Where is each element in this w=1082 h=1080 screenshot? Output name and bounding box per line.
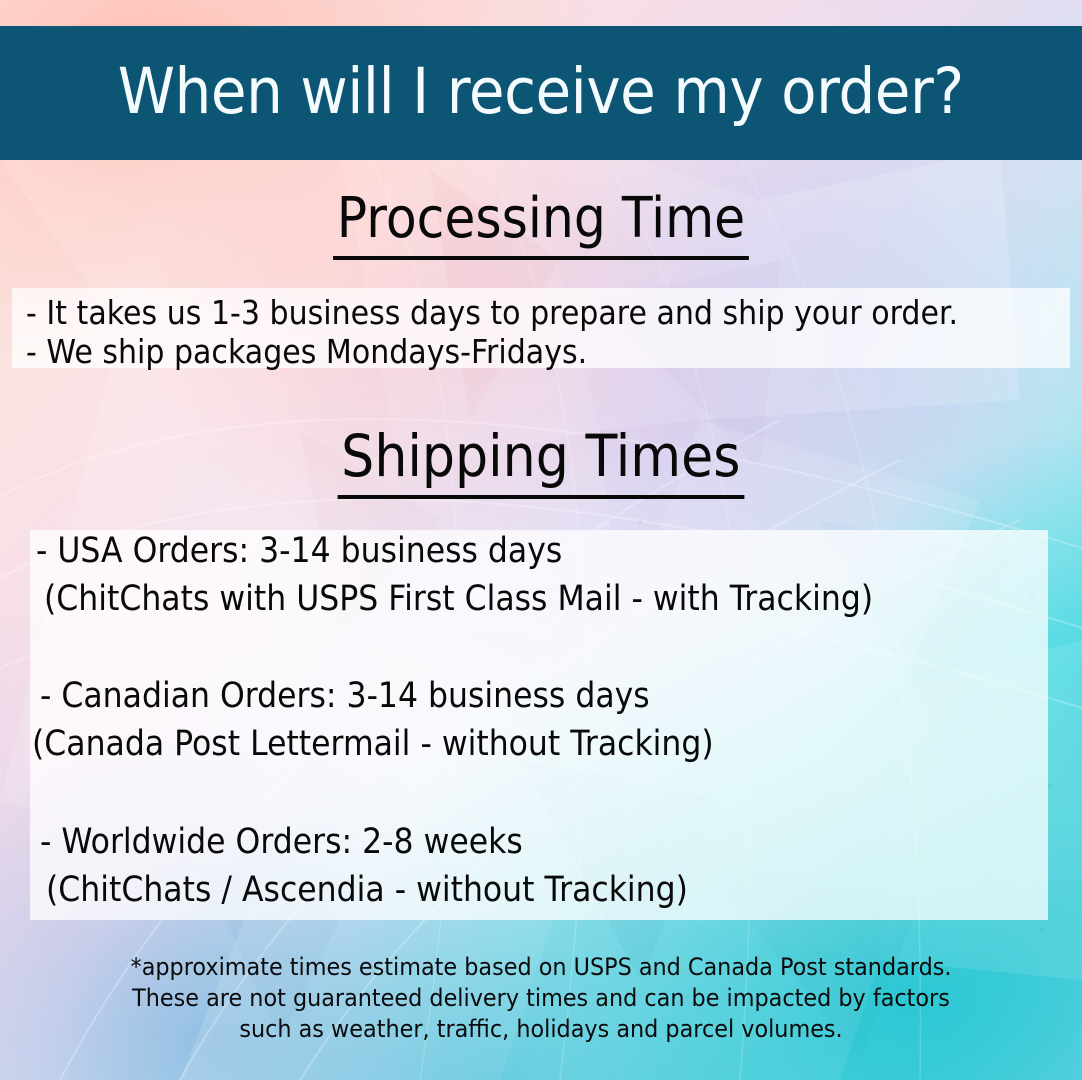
shipping-usa-carrier: (ChitChats with USPS First Class Mail - … bbox=[44, 579, 873, 619]
shipping-canada-carrier: (Canada Post Lettermail - without Tracki… bbox=[32, 724, 714, 764]
shipping-canada-duration: - Canadian Orders: 3-14 business days bbox=[40, 676, 650, 716]
header-banner: When will I receive my order? bbox=[0, 26, 1082, 160]
shipping-usa-duration: - USA Orders: 3-14 business days bbox=[36, 531, 562, 571]
section-heading-processing-time: Processing Time bbox=[0, 186, 1082, 260]
footnote-line-2: These are not guaranteed delivery times … bbox=[38, 983, 1044, 1014]
section-heading-shipping-times: Shipping Times bbox=[0, 422, 1082, 499]
shipping-policy-infographic: When will I receive my order? Processing… bbox=[0, 0, 1082, 1080]
page-title: When will I receive my order? bbox=[118, 60, 964, 127]
shipping-times-heading-text: Shipping Times bbox=[338, 422, 744, 499]
footnote-line-3: such as weather, traffic, holidays and p… bbox=[38, 1014, 1044, 1045]
processing-line-2: - We ship packages Mondays-Fridays. bbox=[26, 332, 587, 371]
processing-time-heading-text: Processing Time bbox=[333, 186, 749, 260]
shipping-worldwide-duration: - Worldwide Orders: 2-8 weeks bbox=[40, 822, 523, 862]
shipping-worldwide-carrier: (ChitChats / Ascendia - without Tracking… bbox=[46, 870, 688, 910]
disclaimer-footnote: *approximate times estimate based on USP… bbox=[0, 952, 1082, 1045]
processing-line-1: - It takes us 1-3 business days to prepa… bbox=[26, 293, 958, 332]
content-area: Processing Time - It takes us 1-3 busine… bbox=[0, 0, 1082, 1080]
footnote-line-1: *approximate times estimate based on USP… bbox=[38, 952, 1044, 983]
